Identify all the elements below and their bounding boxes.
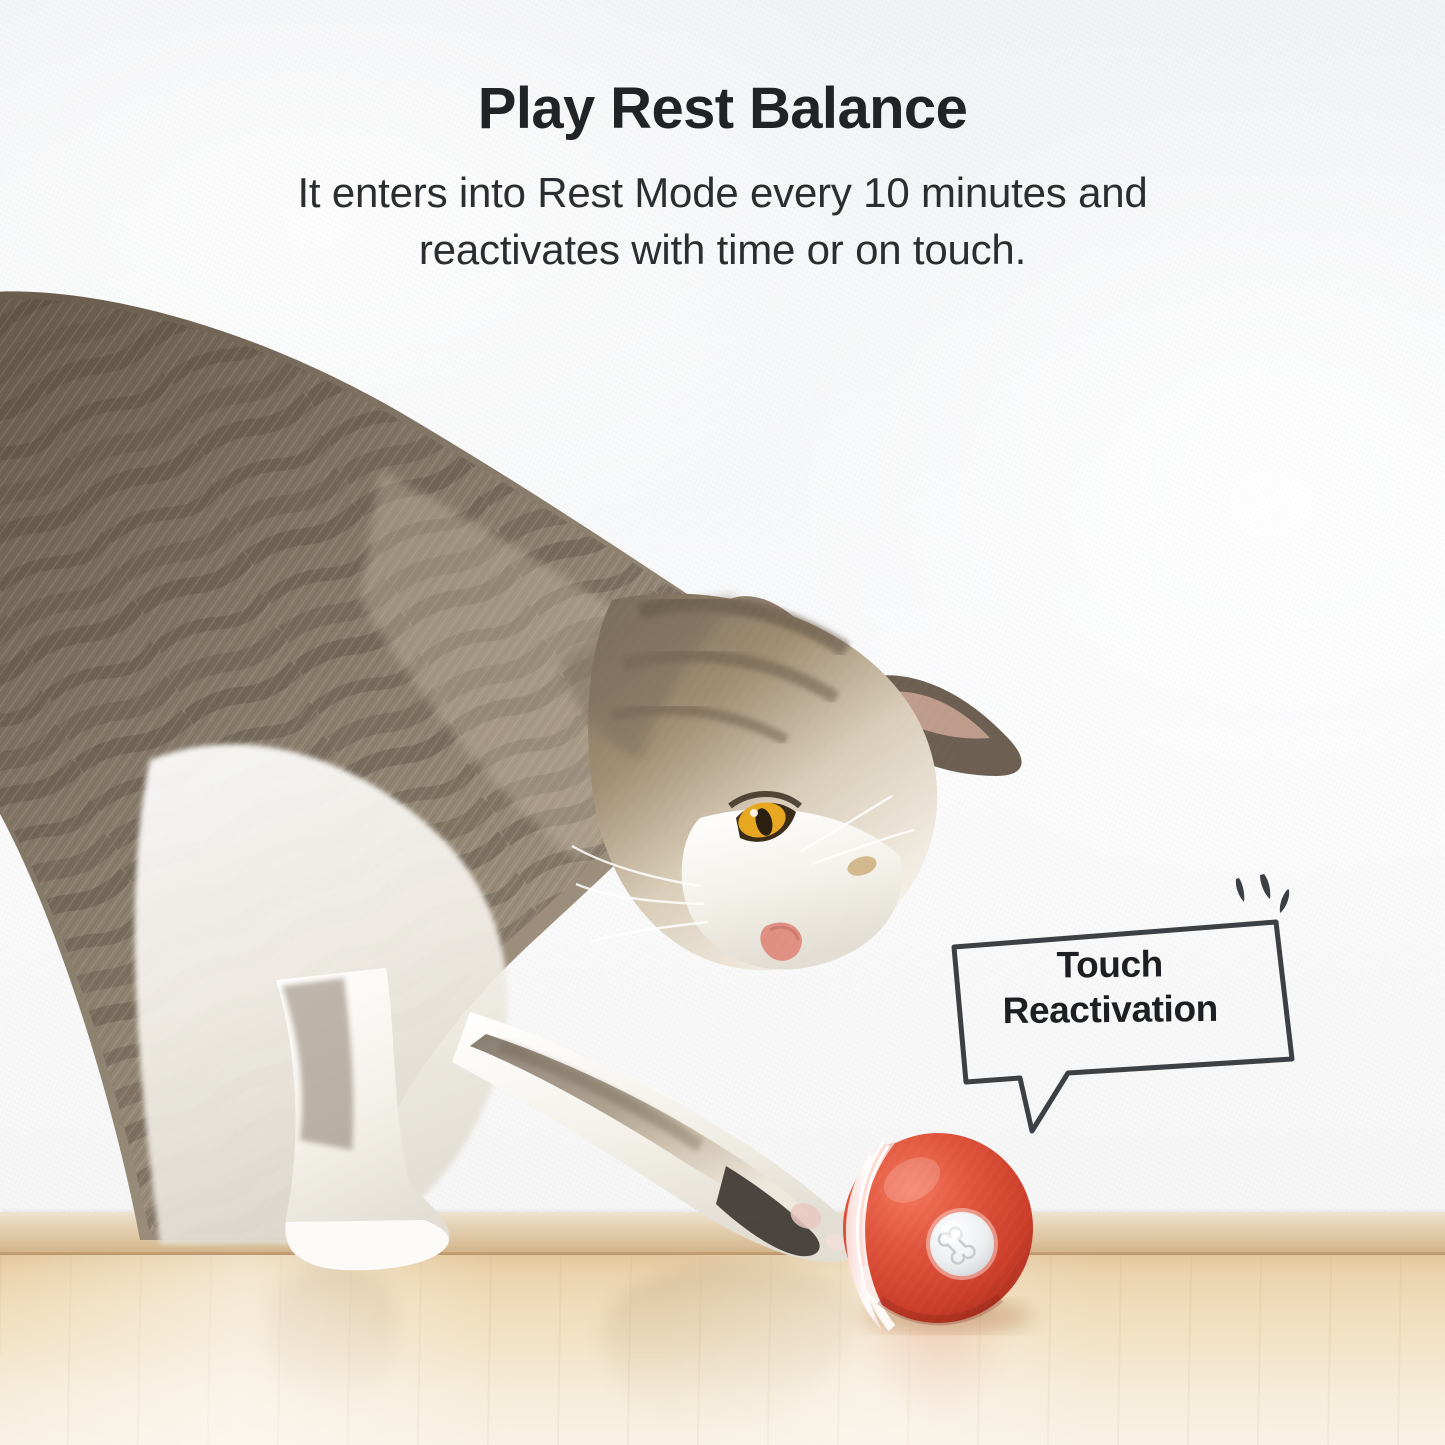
product-feature-banner: Play Rest Balance It enters into Rest Mo… xyxy=(0,0,1445,1445)
cat-paw-reaching xyxy=(452,1012,861,1262)
callout-text: Touch Reactivation xyxy=(940,940,1281,1034)
copy-block: Play Rest Balance It enters into Rest Mo… xyxy=(0,0,1445,279)
page-title: Play Rest Balance xyxy=(0,78,1445,139)
ball-button xyxy=(926,1208,998,1280)
subtitle-line-1: It enters into Rest Mode every 10 minute… xyxy=(0,165,1445,222)
emphasis-marks-icon xyxy=(1236,874,1289,913)
subtitle-line-2: reactivates with time or on touch. xyxy=(0,222,1445,279)
touch-reactivation-callout: Touch Reactivation xyxy=(940,866,1320,1156)
page-subtitle: It enters into Rest Mode every 10 minute… xyxy=(0,165,1445,278)
callout-line-1: Touch xyxy=(940,940,1280,989)
callout-line-2: Reactivation xyxy=(940,985,1280,1034)
pet-ball-toy xyxy=(843,1133,1034,1332)
